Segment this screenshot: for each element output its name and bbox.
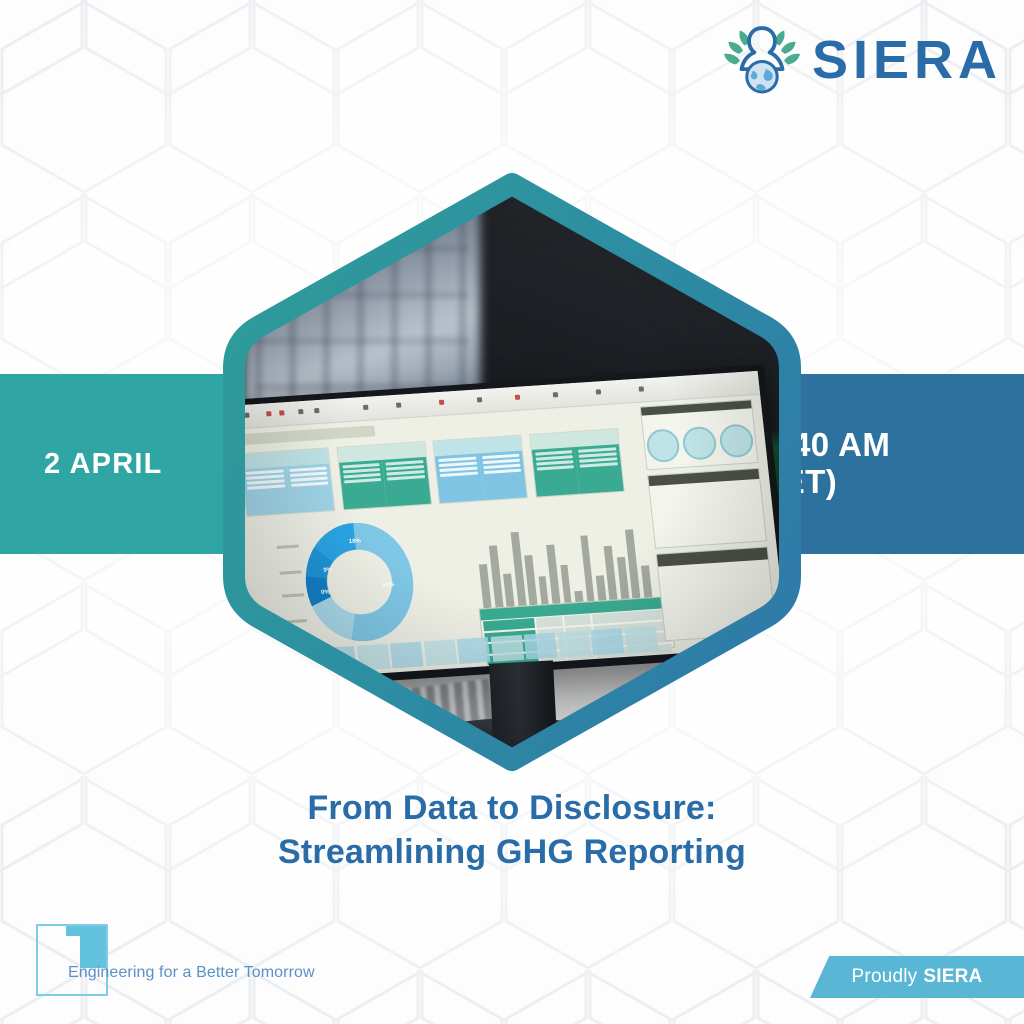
proudly-siera-badge: Proudly SIERA (810, 956, 1024, 998)
social-post-canvas: SIERA 2 APRIL 10-10:40 AM (CET) (0, 0, 1024, 1024)
headline-line-1: From Data to Disclosure: (0, 786, 1024, 830)
brand-wordmark: SIERA (812, 33, 1002, 87)
badge-prefix: Proudly (852, 966, 918, 988)
footer-tagline-block: Engineering for a Better Tomorrow (36, 924, 315, 996)
hexagon-frame (222, 172, 802, 772)
badge-brand: SIERA (923, 966, 982, 988)
brand-logo: SIERA (724, 22, 1002, 98)
headline-line-2: Streamlining GHG Reporting (0, 830, 1024, 874)
page-title: From Data to Disclosure: Streamlining GH… (0, 786, 1024, 874)
siera-woman-globe-leaves-icon (724, 22, 800, 98)
footer-tagline: Engineering for a Better Tomorrow (68, 964, 315, 982)
square-corner-mark-icon (36, 924, 108, 996)
event-date: 2 APRIL (44, 448, 163, 481)
